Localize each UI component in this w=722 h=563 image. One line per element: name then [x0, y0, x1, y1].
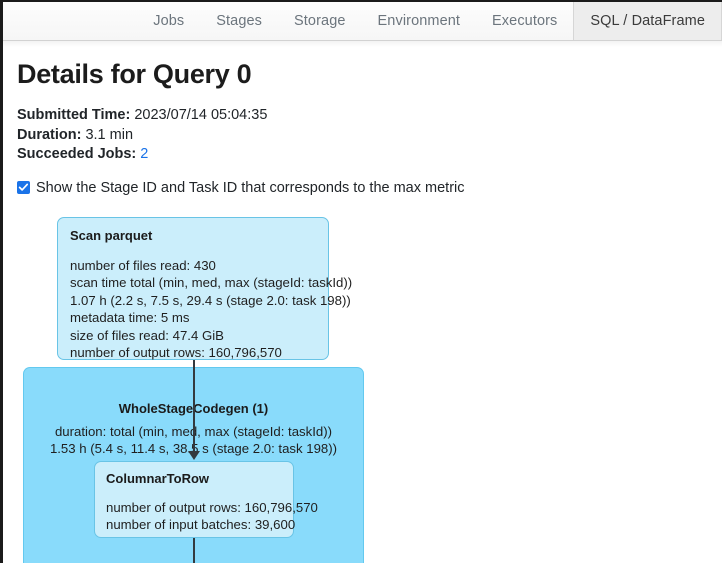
page-title: Details for Query 0: [17, 59, 722, 90]
edge-columnar-downstream: [193, 538, 195, 563]
tab-jobs[interactable]: Jobs: [137, 2, 200, 40]
tab-stages[interactable]: Stages: [200, 2, 278, 40]
main-navbar: Jobs Stages Storage Environment Executor…: [3, 2, 722, 41]
edge-scan-to-columnar: [193, 360, 195, 454]
duration-label: Duration:: [17, 127, 81, 143]
succeeded-jobs-link[interactable]: 2: [140, 146, 148, 162]
node-scan-parquet[interactable]: Scan parquet number of files read: 430 s…: [57, 217, 329, 360]
show-stage-task-label: Show the Stage ID and Task ID that corre…: [36, 180, 465, 196]
edge-scan-to-columnar-arrowhead: [188, 451, 200, 460]
duration-value: 3.1 min: [85, 127, 133, 143]
node-columnar-to-row-metric-1: number of input batches: 39,600: [106, 516, 282, 534]
tab-storage[interactable]: Storage: [278, 2, 362, 40]
page-content: Details for Query 0 Submitted Time: 2023…: [3, 41, 722, 563]
node-columnar-to-row-metric-0: number of output rows: 160,796,570: [106, 499, 282, 517]
tab-executors[interactable]: Executors: [476, 2, 573, 40]
duration-row: Duration: 3.1 min: [17, 126, 722, 146]
node-columnar-to-row-title: ColumnarToRow: [106, 471, 282, 487]
show-stage-task-checkbox[interactable]: [17, 181, 30, 194]
app-window: Jobs Stages Storage Environment Executor…: [0, 0, 722, 563]
submitted-time-row: Submitted Time: 2023/07/14 05:04:35: [17, 106, 722, 126]
node-scan-parquet-metric-4: size of files read: 47.4 GiB: [70, 327, 316, 345]
show-stage-task-row[interactable]: Show the Stage ID and Task ID that corre…: [17, 180, 722, 196]
succeeded-jobs-label: Succeeded Jobs:: [17, 146, 136, 162]
succeeded-jobs-row: Succeeded Jobs: 2: [17, 145, 722, 165]
node-scan-parquet-metric-1: scan time total (min, med, max (stageId:…: [70, 274, 316, 292]
submitted-time-value: 2023/07/14 05:04:35: [134, 107, 267, 123]
check-icon: [18, 182, 29, 193]
tab-environment[interactable]: Environment: [362, 2, 477, 40]
node-columnar-to-row[interactable]: ColumnarToRow number of output rows: 160…: [94, 461, 294, 538]
node-scan-parquet-metric-0: number of files read: 430: [70, 257, 316, 275]
node-scan-parquet-metric-2: 1.07 h (2.2 s, 7.5 s, 29.4 s (stage 2.0:…: [70, 292, 316, 310]
node-scan-parquet-metric-3: metadata time: 5 ms: [70, 309, 316, 327]
submitted-time-label: Submitted Time:: [17, 107, 130, 123]
node-scan-parquet-title: Scan parquet: [70, 228, 316, 244]
tab-sql-dataframe[interactable]: SQL / DataFrame: [573, 2, 722, 40]
query-plan-graph: Scan parquet number of files read: 430 s…: [17, 210, 722, 563]
